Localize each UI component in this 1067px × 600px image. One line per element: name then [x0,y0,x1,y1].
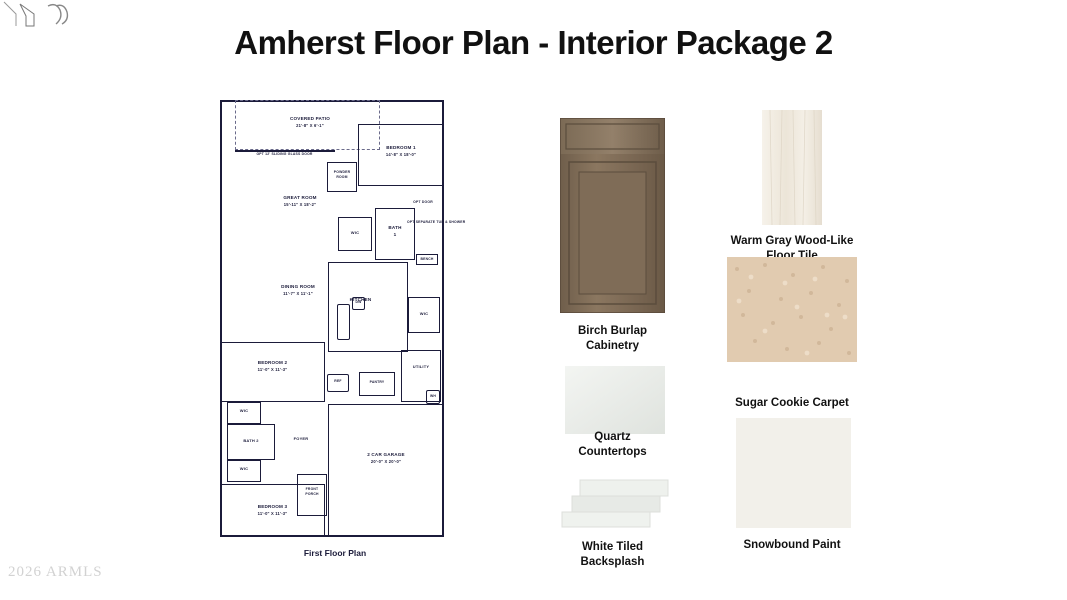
swatch-floor-tile [762,110,822,225]
swatch-carpet [727,257,857,362]
swatch-quartz [565,366,665,434]
swatch-cabinetry [560,118,665,313]
room-covered-patio: COVERED PATIO 21'-8" X 6'-1" [255,116,365,129]
room-bath-2: BATH 2 [227,438,275,444]
floor-plan-caption: First Floor Plan [215,548,455,558]
room-bedroom-1: BEDROOM 1 14'-8" X 18'-0" [365,145,437,158]
label-wic-4: WIC [227,466,261,472]
swatch-backsplash [560,478,670,528]
page-title: Amherst Floor Plan - Interior Package 2 [0,24,1067,62]
room-foyer: FOYER [277,436,325,442]
room-pantry: PANTRY [359,380,395,385]
kitchen-island [337,304,350,340]
garage-wall [328,404,444,537]
swatch-caption-quartz: QuartzCountertops [545,430,680,460]
room-front-porch: FRONT PORCH [297,487,327,497]
label-bench: BENCH [414,257,440,262]
room-bedroom-2: BEDROOM 2 11'-0" X 11'-3" [225,360,320,373]
label-wic-3: WIC [227,408,261,414]
label-wic-master: WIC [338,230,372,236]
watermark: 2026 ARMLS [8,564,103,581]
note-opt-door: OPT DOOR [410,200,436,205]
room-great-room: GREAT ROOM 15'-11" X 18'-2" [245,195,355,208]
label-wic-2: WIC [408,311,440,317]
swatch-caption-paint: Snowbound Paint [712,538,872,553]
swatch-caption-carpet: Sugar Cookie Carpet [712,396,872,411]
swatch-caption-cabinetry: Birch BurlapCabinetry [545,324,680,354]
swatch-paint [736,418,851,528]
label-wh: WH [426,394,440,399]
label-ref: REF [327,379,349,384]
room-garage: 2 CAR GARAGE 20'-0" X 20'-0" [335,452,437,465]
room-utility: UTILITY [401,364,441,370]
floor-plan-diagram: COVERED PATIO 21'-8" X 6'-1" BEDROOM 1 1… [215,92,455,542]
label-dw: DW [352,300,365,305]
room-bath-1: BATH 1 [377,225,413,238]
swatch-caption-backsplash: White TiledBacksplash [545,540,680,570]
room-powder-room: POWDER ROOM [327,170,357,180]
note-sliding-glass-door: OPT 12' SLIDING GLASS DOOR [227,152,342,157]
